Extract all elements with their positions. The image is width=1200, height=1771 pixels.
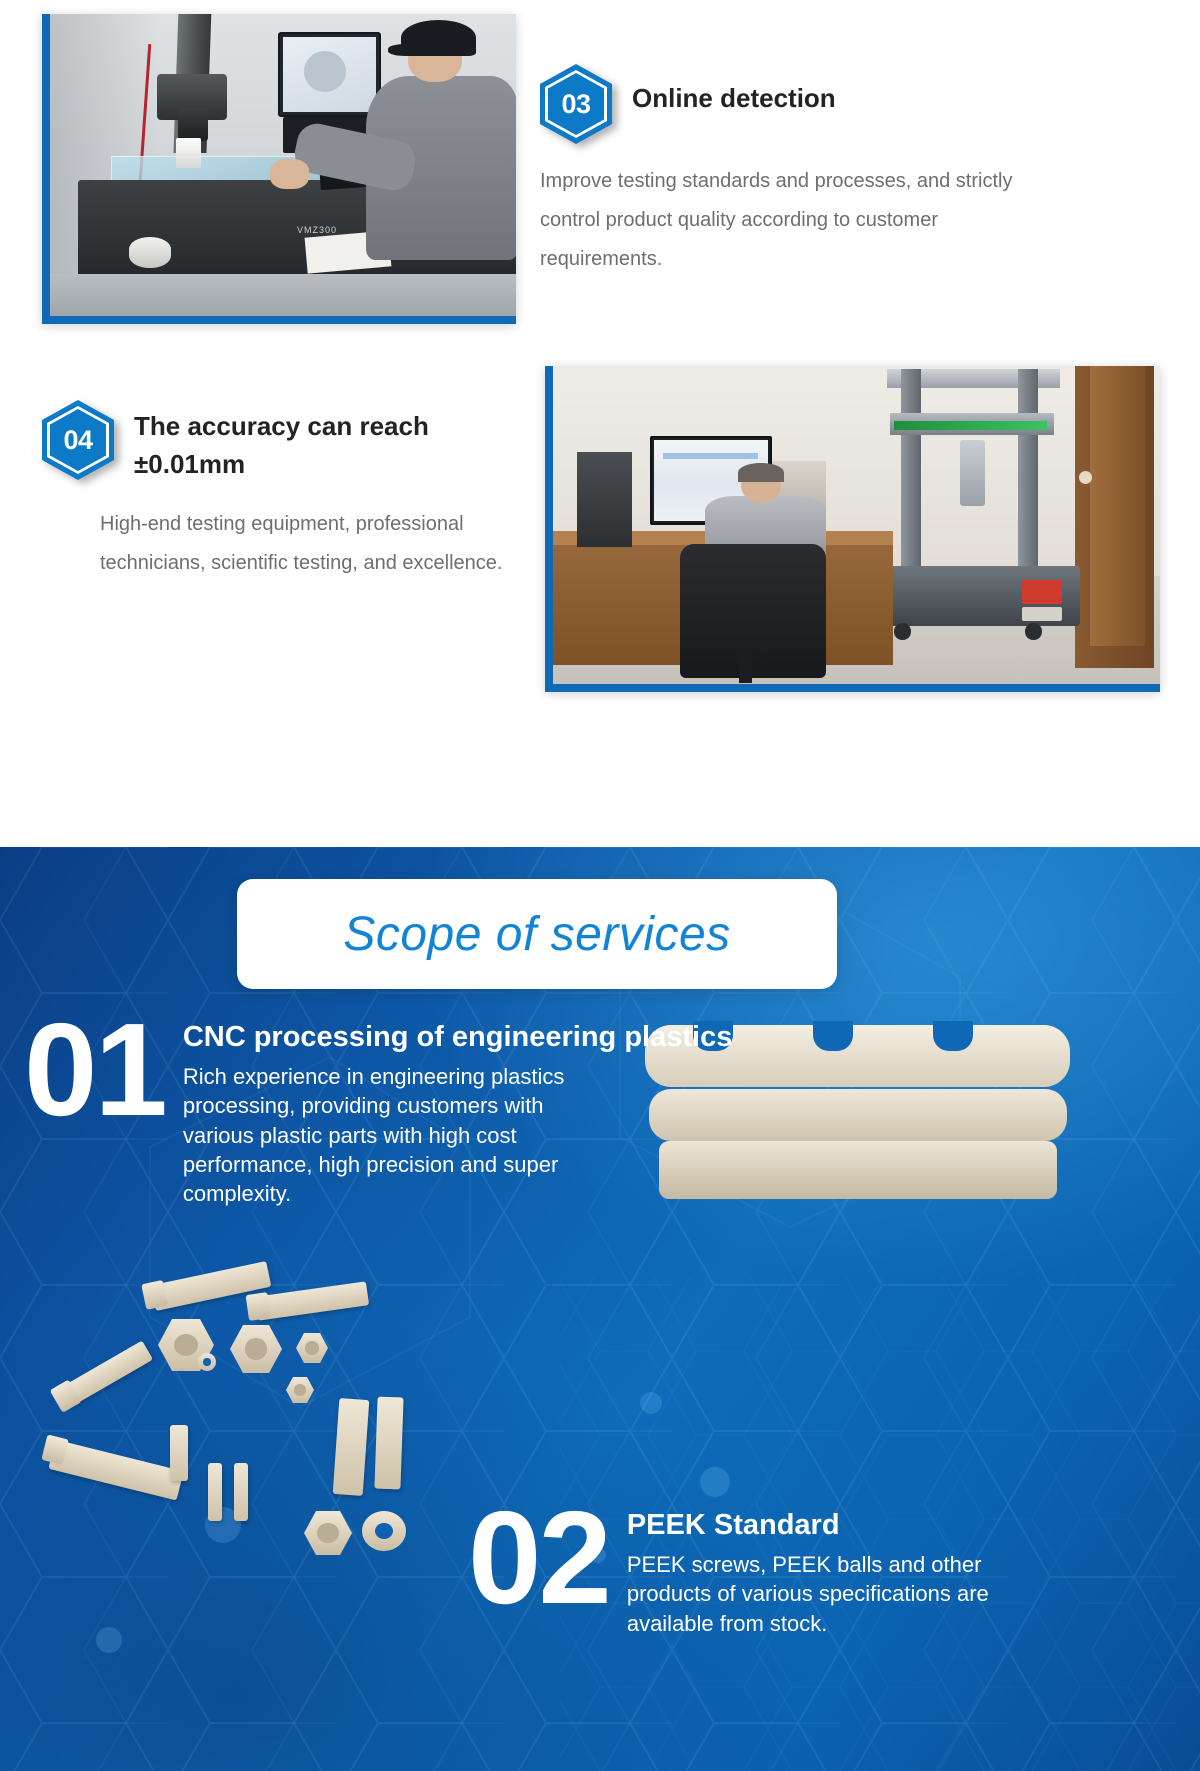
section-title-card: Scope of services <box>237 879 837 989</box>
machine-model-label: VMZ300 <box>297 225 337 235</box>
scope-of-services-section: Scope of services 01 CNC processing of e… <box>0 847 1200 1771</box>
service-02-body: PEEK screws, PEEK balls and other produc… <box>627 1550 1027 1638</box>
section-title: Scope of services <box>343 907 730 962</box>
peek-fasteners-image <box>40 1267 470 1557</box>
hexagon-badge-icon: 04 <box>42 400 114 480</box>
feature-03-body: Improve testing standards and processes,… <box>540 162 1060 279</box>
feature-03-number: 03 <box>540 64 612 144</box>
service-02-title: PEEK Standard <box>627 1509 1027 1542</box>
feature-04: 04 The accuracy can reach ±0.01mm High-e… <box>42 400 522 583</box>
marketing-page: VMZ300 03 <box>0 0 1200 1771</box>
photo-online-detection: VMZ300 <box>42 14 516 324</box>
feature-04-body: High-end testing equipment, professional… <box>100 505 522 583</box>
feature-04-number: 04 <box>42 400 114 480</box>
service-01-title: CNC processing of engineering plastics <box>183 1021 603 1054</box>
feature-03-title: Online detection <box>632 64 836 118</box>
service-02-number: 02 <box>468 1497 609 1618</box>
photo-testing-equipment <box>545 366 1160 692</box>
hexagon-badge-icon: 03 <box>540 64 612 144</box>
service-02: 02 PEEK Standard PEEK screws, PEEK balls… <box>468 1497 1027 1638</box>
service-01-body: Rich experience in engineering plastics … <box>183 1062 603 1208</box>
feature-03: 03 Online detection Improve testing stan… <box>540 64 1060 279</box>
features-section: VMZ300 03 <box>0 0 1200 847</box>
service-01: 01 CNC processing of engineering plastic… <box>24 1009 603 1208</box>
photo-testing-equipment-image <box>553 366 1160 684</box>
photo-online-detection-image: VMZ300 <box>50 14 516 316</box>
feature-04-title: The accuracy can reach ±0.01mm <box>134 400 522 483</box>
service-01-number: 01 <box>24 1009 165 1130</box>
